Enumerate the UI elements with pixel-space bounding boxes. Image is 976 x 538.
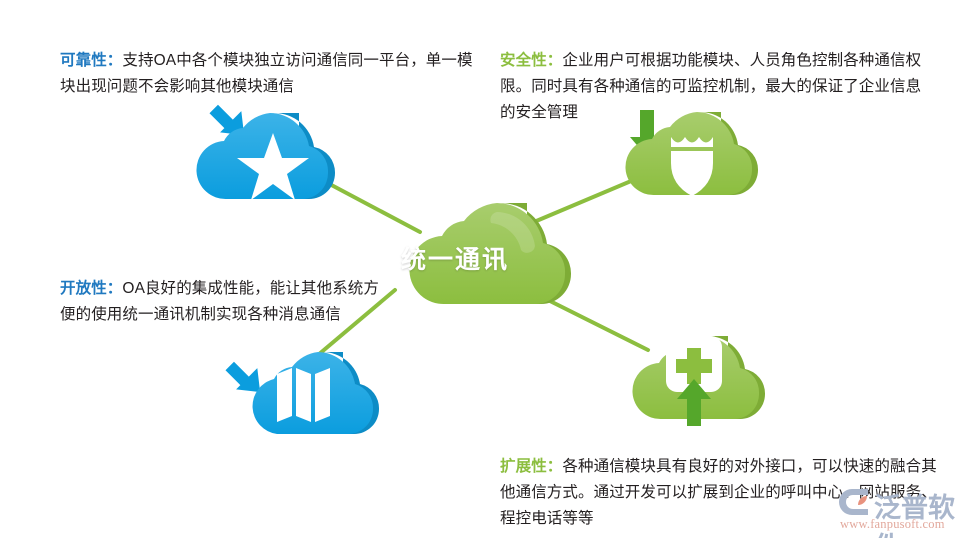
- reliability-text-block: 可靠性：支持OA中各个模块独立访问通信同一平台，单一模块出现问题不会影响其他模块…: [60, 22, 480, 100]
- openness-text-block: 开放性：OA良好的集成性能，能让其他系统方便的使用统一通讯机制实现各种消息通信: [60, 250, 390, 328]
- security-heading: 安全性：: [500, 52, 562, 69]
- extensibility-node[interactable]: [632, 336, 765, 426]
- fanpu-logo-url: www.fanpusoft.com: [840, 517, 945, 532]
- reliability-node[interactable]: [196, 96, 335, 200]
- openness-heading: 开放性：: [60, 280, 122, 297]
- connector-reliability: [322, 180, 420, 232]
- diagram-canvas: 统一通讯 可靠性：支持OA中各个模块独立访问通信同一平台，单一模块出现问题不会影…: [0, 0, 976, 538]
- extensibility-heading: 扩展性：: [500, 458, 562, 475]
- fanpu-logo-watermark: 泛普软件 www.fanpusoft.com: [838, 486, 970, 534]
- book-icon: [277, 368, 330, 422]
- fanpu-logo-mark-icon: [838, 487, 874, 517]
- security-body: 企业用户可根据功能模块、人员角色控制各种通信权限。同时具有各种通信的可监控机制，…: [500, 52, 921, 121]
- cloud-shape: [253, 352, 373, 434]
- openness-node[interactable]: [221, 352, 379, 434]
- reliability-body: 支持OA中各个模块独立访问通信同一平台，单一模块出现问题不会影响其他模块通信: [60, 52, 473, 95]
- reliability-heading: 可靠性：: [60, 52, 122, 69]
- security-text-block: 安全性：企业用户可根据功能模块、人员角色控制各种通信权限。同时具有各种通信的可监…: [500, 22, 930, 126]
